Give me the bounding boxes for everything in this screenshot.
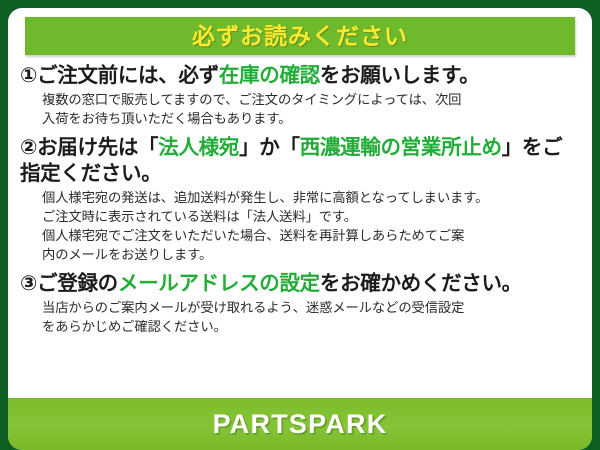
footer-band: PARTSPARK xyxy=(8,398,592,450)
notice-item-body-line: 複数の窓口で販売してますので、ご注文のタイミングによっては、次回 xyxy=(42,91,580,110)
heading-highlight: 在庫の確認 xyxy=(219,64,320,87)
heading-text: をお確かめください。 xyxy=(320,272,522,295)
notice-item-body-line: 個人様宅宛の発送は、追加送料が発生し、非常に高額となってしまいます。 xyxy=(42,189,580,208)
heading-highlight: 法人様宛 xyxy=(158,136,239,159)
notice-item-body-line: 当店からのご案内メールが受け取れるよう、迷惑メールなどの受信設定 xyxy=(42,299,580,318)
heading-text: をお願いします。 xyxy=(320,64,480,87)
notice-card: 必ずお読みください ①ご注文前には、必ず在庫の確認をお願いします。複数の窓口で販… xyxy=(8,8,592,450)
notice-item-body-line: 入荷をお待ち頂いただく場合もあります。 xyxy=(42,110,580,129)
brand-logo-text: PARTSPARK xyxy=(213,411,388,438)
notice-item: ③ご登録のメールアドレスの設定をお確かめください。当店からのご案内メールが受け取… xyxy=(20,271,580,337)
notice-item-body-line: をあらかじめご確認ください。 xyxy=(42,318,580,337)
header-banner: 必ずお読みください xyxy=(25,17,575,55)
notice-item-body: 複数の窓口で販売してますので、ご注文のタイミングによっては、次回入荷をお待ち頂い… xyxy=(42,91,580,129)
notice-item-body-line: ご注文時に表示されている送料は「法人送料」です。 xyxy=(42,208,580,227)
notice-item-body: 個人様宅宛の発送は、追加送料が発生し、非常に高額となってしまいます。ご注文時に表… xyxy=(42,189,580,265)
notice-item-body: 当店からのご案内メールが受け取れるよう、迷惑メールなどの受信設定をあらかじめご確… xyxy=(42,299,580,337)
item-number-marker: ② xyxy=(20,136,37,159)
heading-text: 」か「 xyxy=(239,136,300,159)
notice-item-body-line: 個人様宅宛でご注文をいただいた場合、送料を再計算しあらためてご案 xyxy=(42,227,580,246)
notice-item-heading: ②お届け先は「法人様宛」か「西濃運輸の営業所止め」をご指定ください。 xyxy=(20,135,580,187)
heading-text: お届け先は「 xyxy=(37,136,158,159)
notice-item: ②お届け先は「法人様宛」か「西濃運輸の営業所止め」をご指定ください。個人様宅宛の… xyxy=(20,135,580,265)
notice-frame: 必ずお読みください ①ご注文前には、必ず在庫の確認をお願いします。複数の窓口で販… xyxy=(0,0,600,450)
item-number-marker: ③ xyxy=(20,272,37,295)
item-number-marker: ① xyxy=(20,64,37,87)
heading-highlight: 西濃運輸の営業所止め xyxy=(300,136,502,159)
notice-item: ①ご注文前には、必ず在庫の確認をお願いします。複数の窓口で販売してますので、ご注… xyxy=(20,63,580,129)
heading-text: ご登録の xyxy=(37,272,118,295)
notice-item-body-line: 内のメールをお送りします。 xyxy=(42,246,580,265)
notice-item-heading: ③ご登録のメールアドレスの設定をお確かめください。 xyxy=(20,271,580,297)
heading-highlight: メールアドレスの設定 xyxy=(118,272,320,295)
banner-title: 必ずお読みください xyxy=(192,25,408,48)
notice-item-list: ①ご注文前には、必ず在庫の確認をお願いします。複数の窓口で販売してますので、ご注… xyxy=(8,55,592,398)
heading-text: ご注文前には、必ず xyxy=(37,64,219,87)
notice-item-heading: ①ご注文前には、必ず在庫の確認をお願いします。 xyxy=(20,63,580,89)
